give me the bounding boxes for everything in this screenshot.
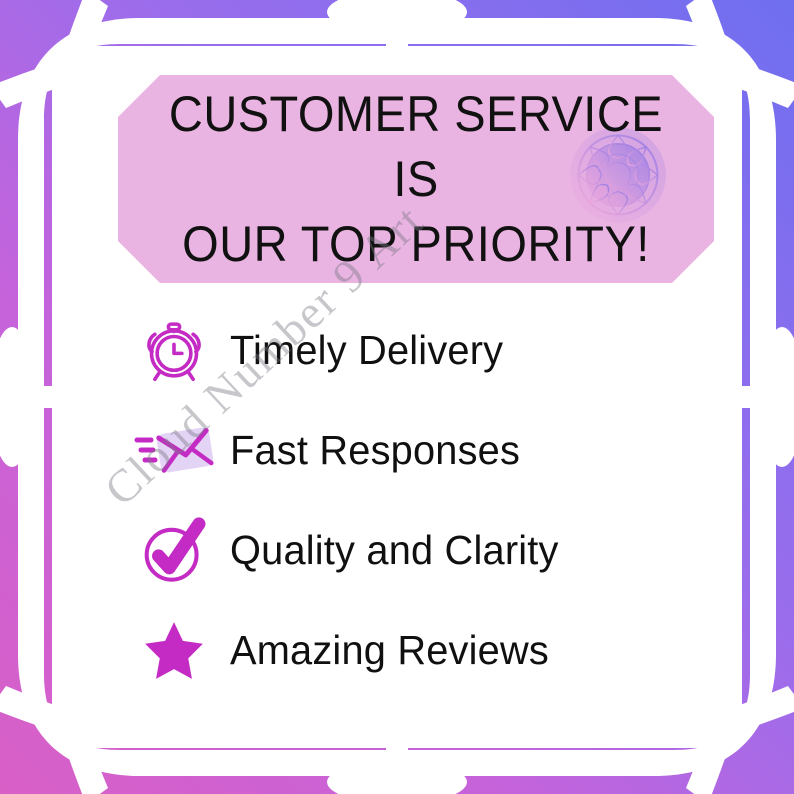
feature-row-timely-delivery: Timely Delivery [118,300,718,400]
feature-label-fast-responses: Fast Responses [230,427,520,474]
feature-label-timely-delivery: Timely Delivery [230,327,503,374]
banner-title-line-2: OUR TOP PRIORITY! [160,212,671,277]
poster-canvas: CUSTOMER SERVICE IS OUR TOP PRIORITY! [0,0,794,794]
page-title: CUSTOMER SERVICE IS OUR TOP PRIORITY! [136,82,696,277]
star-icon [118,617,230,683]
alarm-clock-icon [118,314,230,386]
envelope-fast-icon [118,414,230,486]
feature-list: Timely Delivery [118,300,718,700]
feature-row-quality-and-clarity: Quality and Clarity [118,500,718,600]
feature-row-amazing-reviews: Amazing Reviews [118,600,718,700]
feature-row-fast-responses: Fast Responses [118,400,718,500]
check-circle-icon [118,512,230,588]
header-banner: CUSTOMER SERVICE IS OUR TOP PRIORITY! [118,75,714,283]
banner-title-line-1: CUSTOMER SERVICE IS [160,82,671,212]
feature-label-amazing-reviews: Amazing Reviews [230,627,549,674]
feature-label-quality-and-clarity: Quality and Clarity [230,527,559,574]
